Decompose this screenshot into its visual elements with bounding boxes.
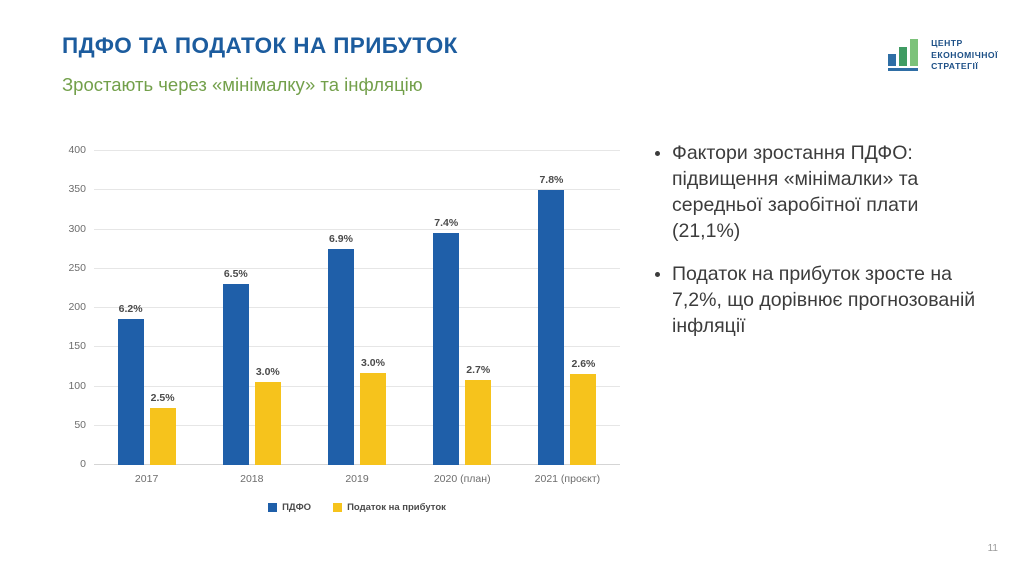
- bar-data-label: 6.5%: [224, 268, 248, 280]
- bar-data-label: 2.7%: [466, 364, 490, 376]
- logo-line-1: ЦЕНТР: [931, 38, 998, 50]
- legend-label: Податок на прибуток: [347, 502, 446, 513]
- logo-line-2: ЕКОНОМІЧНОЇ: [931, 50, 998, 62]
- y-axis-tick-label: 350: [68, 183, 86, 195]
- y-axis-tick-label: 300: [68, 223, 86, 235]
- bullet-dot-icon: [655, 272, 660, 277]
- page-subtitle: Зростають через «мінімалку» та інфляцію: [62, 74, 423, 96]
- bullet-item: Фактори зростання ПДФО: підвищення «міні…: [655, 140, 985, 245]
- x-axis-category-label: 2017: [94, 473, 199, 485]
- y-axis-tick-label: 400: [68, 144, 86, 156]
- bullet-item: Податок на прибуток зросте на 7,2%, що д…: [655, 261, 985, 339]
- legend-swatch-icon: [268, 503, 277, 512]
- bar-group: 6.9%3.0%: [304, 151, 409, 465]
- bar-data-label: 6.2%: [119, 303, 143, 315]
- bar-pdfo[interactable]: 6.9%: [328, 249, 354, 465]
- bar-pdfo[interactable]: 7.8%: [538, 190, 564, 465]
- bar-pdfo[interactable]: 6.5%: [223, 284, 249, 465]
- bar-profit-tax[interactable]: 3.0%: [255, 382, 281, 465]
- bullet-text: Податок на прибуток зросте на 7,2%, що д…: [672, 261, 985, 339]
- page-number: 11: [988, 543, 998, 554]
- bar-profit-tax[interactable]: 3.0%: [360, 373, 386, 465]
- bullet-dot-icon: [655, 151, 660, 156]
- x-axis-category-label: 2019: [304, 473, 409, 485]
- legend-item[interactable]: ПДФО: [268, 502, 311, 513]
- bar-group: 6.5%3.0%: [199, 151, 304, 465]
- legend-item[interactable]: Податок на прибуток: [333, 502, 446, 513]
- y-axis-tick-label: 250: [68, 262, 86, 274]
- chart-legend: ПДФОПодаток на прибуток: [94, 502, 620, 513]
- bar-data-label: 7.8%: [539, 174, 563, 186]
- logo-line-3: СТРАТЕГІЇ: [931, 61, 998, 73]
- organization-logo: ЦЕНТР ЕКОНОМІЧНОЇ СТРАТЕГІЇ: [888, 38, 998, 73]
- slide: ПДФО ТА ПОДАТОК НА ПРИБУТОК Зростають че…: [0, 0, 1024, 568]
- bar-pdfo[interactable]: 6.2%: [118, 319, 144, 465]
- x-axis-category-label: 2018: [199, 473, 304, 485]
- bar-pdfo[interactable]: 7.4%: [433, 233, 459, 465]
- bar-profit-tax[interactable]: 2.7%: [465, 380, 491, 465]
- bar-group: 6.2%2.5%: [94, 151, 199, 465]
- x-axis-category-label: 2021 (проєкт): [515, 473, 620, 485]
- page-title: ПДФО ТА ПОДАТОК НА ПРИБУТОК: [62, 33, 458, 59]
- bar-chart-logo-icon: [888, 39, 924, 71]
- logo-text: ЦЕНТР ЕКОНОМІЧНОЇ СТРАТЕГІЇ: [931, 38, 998, 73]
- bar-group: 7.8%2.6%: [515, 151, 620, 465]
- bar-data-label: 6.9%: [329, 233, 353, 245]
- chart-plot-area: 050100150200250300350400 6.2%2.5%6.5%3.0…: [94, 151, 620, 465]
- bar-data-label: 2.5%: [151, 392, 175, 404]
- bar-group: 7.4%2.7%: [410, 151, 515, 465]
- legend-label: ПДФО: [282, 502, 311, 513]
- y-axis-tick-label: 200: [68, 301, 86, 313]
- bar-data-label: 3.0%: [256, 366, 280, 378]
- bullet-text: Фактори зростання ПДФО: підвищення «міні…: [672, 140, 985, 245]
- y-axis-tick-label: 0: [80, 458, 86, 470]
- bar-data-label: 3.0%: [361, 357, 385, 369]
- bar-profit-tax[interactable]: 2.5%: [150, 408, 176, 465]
- bar-chart: 050100150200250300350400 6.2%2.5%6.5%3.0…: [58, 140, 638, 530]
- y-axis-tick-label: 100: [68, 380, 86, 392]
- bar-data-label: 2.6%: [571, 358, 595, 370]
- bar-profit-tax[interactable]: 2.6%: [570, 374, 596, 465]
- x-axis-category-label: 2020 (план): [410, 473, 515, 485]
- chart-x-axis-labels: 2017201820192020 (план)2021 (проєкт): [94, 473, 620, 485]
- y-axis-tick-label: 150: [68, 340, 86, 352]
- y-axis-tick-label: 50: [74, 419, 86, 431]
- bar-data-label: 7.4%: [434, 217, 458, 229]
- bullet-list: Фактори зростання ПДФО: підвищення «міні…: [655, 140, 985, 355]
- legend-swatch-icon: [333, 503, 342, 512]
- chart-bar-groups: 6.2%2.5%6.5%3.0%6.9%3.0%7.4%2.7%7.8%2.6%: [94, 151, 620, 465]
